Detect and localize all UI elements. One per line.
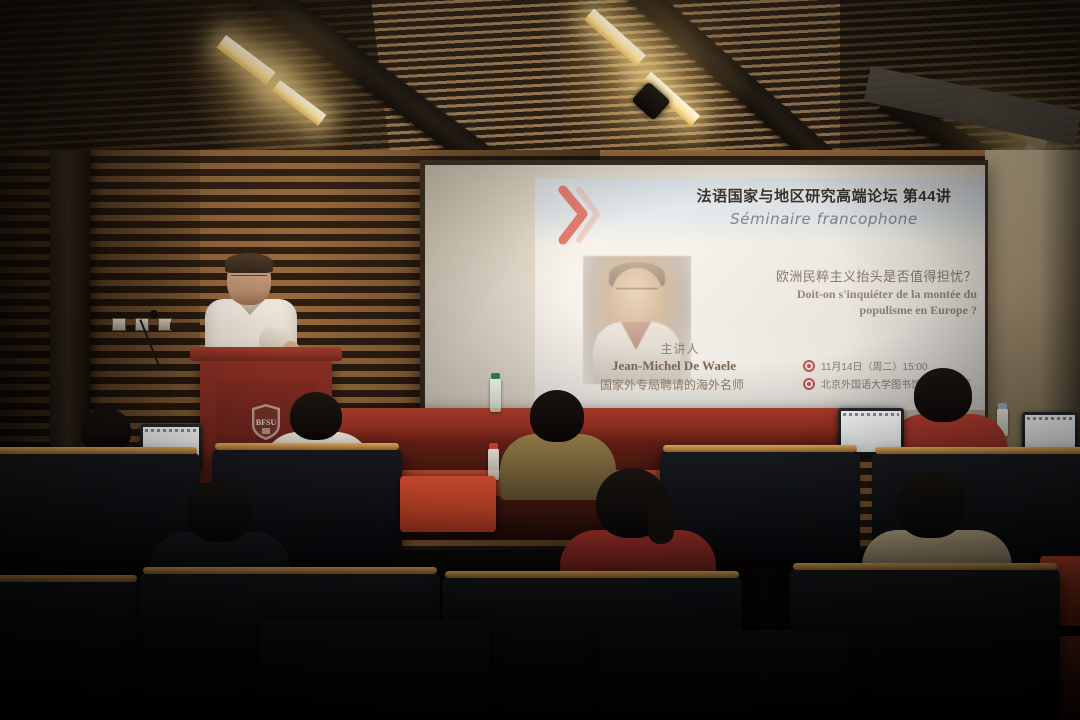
slide-question-cn: 欧洲民粹主义抬头是否值得担忧？ [710, 266, 977, 285]
audience-head [914, 368, 972, 422]
slide-question-fr-line1: Doit-on s'inquiéter de la montée du [797, 287, 977, 301]
audience-head [290, 392, 342, 440]
portrait-face [611, 268, 663, 328]
auditorium-seat-cushion [400, 476, 496, 532]
slide-question-fr-line2: populisme en Europe ? [860, 303, 977, 317]
slide-question-fr: Doit-on s'inquiéter de la montée du popu… [703, 286, 977, 318]
power-outlet [112, 318, 126, 331]
wall-fixture [170, 322, 200, 330]
presenter-hair [225, 253, 273, 273]
microphone-head [150, 310, 158, 318]
audience-head [530, 390, 584, 442]
slide-speaker-name: Jean-Michel De Waele [549, 358, 799, 374]
lecture-hall-photo: 法语国家与地区研究高端论坛 第44讲 Séminaire francophone… [0, 0, 1080, 720]
audience-head [186, 480, 252, 542]
slide-speaker-label: 主讲人 [565, 340, 795, 357]
slide-title-fr: Séminaire francophone [673, 210, 975, 228]
location-dot-icon [803, 378, 815, 390]
lectern-top [190, 347, 342, 361]
ceiling-light [584, 9, 646, 67]
audience-head [896, 470, 966, 538]
audience-ponytail [648, 496, 674, 544]
presenter-glasses [231, 275, 267, 282]
portrait-glasses [616, 288, 658, 297]
slide-title-cn: 法语国家与地区研究高端论坛 第44讲 [673, 188, 975, 207]
auditorium-seat [0, 580, 140, 720]
chevron-right-icon [553, 184, 601, 248]
auditorium-seat [260, 620, 490, 720]
laptop-screen [1025, 415, 1075, 450]
auditorium-seat [600, 630, 850, 720]
clock-dot-icon [803, 360, 815, 372]
